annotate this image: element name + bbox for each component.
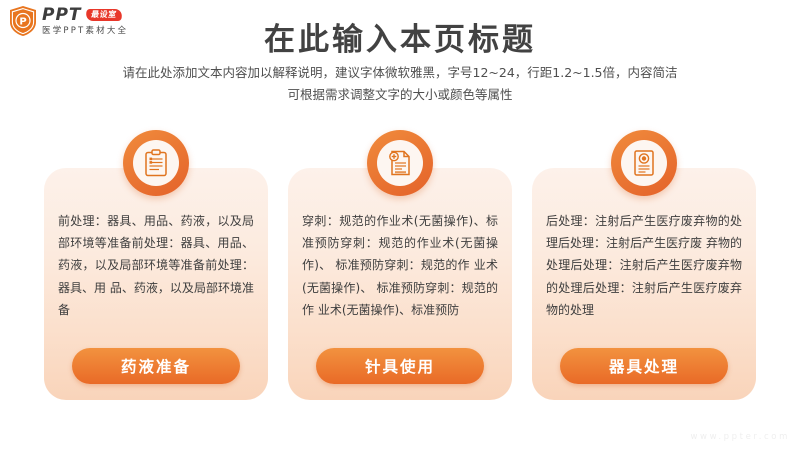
medical-record-icon (377, 140, 423, 186)
card-icon-badge (367, 130, 433, 196)
card-icon-badge (123, 130, 189, 196)
card-body-text: 后处理：注射后产生医疗废弃物的处理后处理：注射后产生医疗废 弃物的处理后处理：注… (546, 210, 742, 321)
slide-canvas: P PPT 最设室 医学PPT素材大全 在此输入本页标题 请在此处添加文本内容加… (0, 0, 800, 450)
card-label-pill[interactable]: 药液准备 (72, 348, 240, 384)
card-body-text: 前处理：器具、用品、药液，以及局部环境等准备前处理：器具、用品、药液，以及局部环… (58, 210, 254, 321)
card-label-pill[interactable]: 器具处理 (560, 348, 728, 384)
subtitle-line-1: 请在此处添加文本内容加以解释说明，建议字体微软雅黑，字号12~24，行距1.2~… (0, 62, 800, 84)
footer-watermark: www.ppter.com (690, 432, 790, 442)
page-title: 在此输入本页标题 (0, 14, 800, 59)
card-label-pill[interactable]: 针具使用 (316, 348, 484, 384)
page-subtitle: 请在此处添加文本内容加以解释说明，建议字体微软雅黑，字号12~24，行距1.2~… (0, 62, 800, 106)
subtitle-line-2: 可根据需求调整文字的大小或颜色等属性 (0, 84, 800, 106)
card-icon-badge (611, 130, 677, 196)
card-body-text: 穿刺：规范的作业术(无菌操作)、标准预防穿刺：规范的作业术(无菌操作)、 标准预… (302, 210, 498, 321)
card-instrument-disposal[interactable]: 后处理：注射后产生医疗废弃物的处理后处理：注射后产生医疗废 弃物的处理后处理：注… (532, 168, 756, 400)
card-needle-use[interactable]: 穿刺：规范的作业术(无菌操作)、标准预防穿刺：规范的作业术(无菌操作)、 标准预… (288, 168, 512, 400)
card-drug-preparation[interactable]: 前处理：器具、用品、药液，以及局部环境等准备前处理：器具、用品、药液，以及局部环… (44, 168, 268, 400)
card-row: 前处理：器具、用品、药液，以及局部环境等准备前处理：器具、用品、药液，以及局部环… (44, 168, 756, 400)
certificate-seal-icon (621, 140, 667, 186)
clipboard-checklist-icon (133, 140, 179, 186)
